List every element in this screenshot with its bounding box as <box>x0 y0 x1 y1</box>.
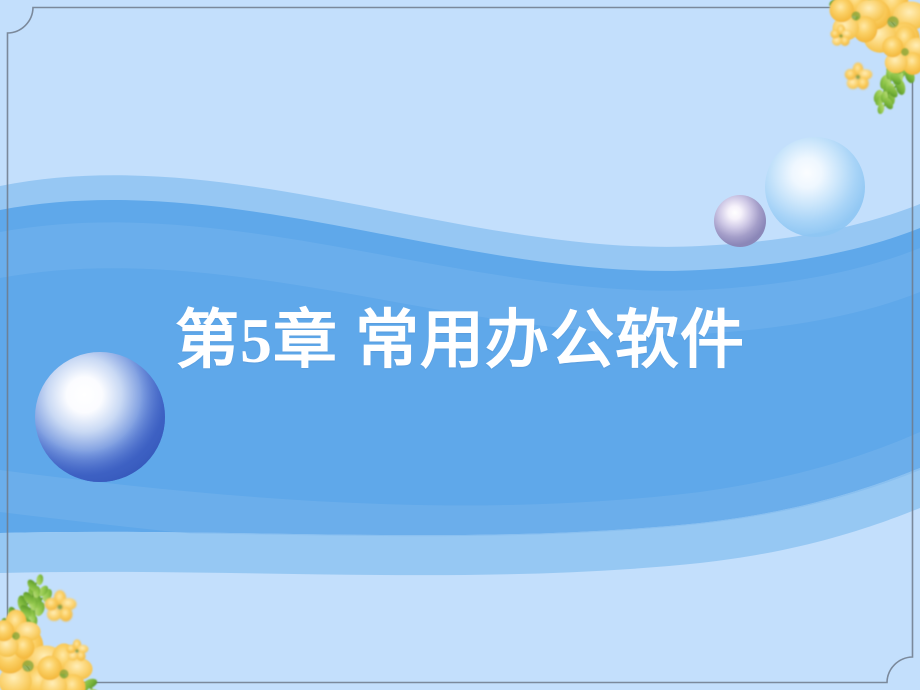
presentation-slide: 第5章 常用办公软件 <box>0 0 920 690</box>
floral-decorations <box>0 0 920 690</box>
floral-decoration-top-right <box>824 0 920 117</box>
floral-decoration-bottom-left <box>0 571 103 690</box>
